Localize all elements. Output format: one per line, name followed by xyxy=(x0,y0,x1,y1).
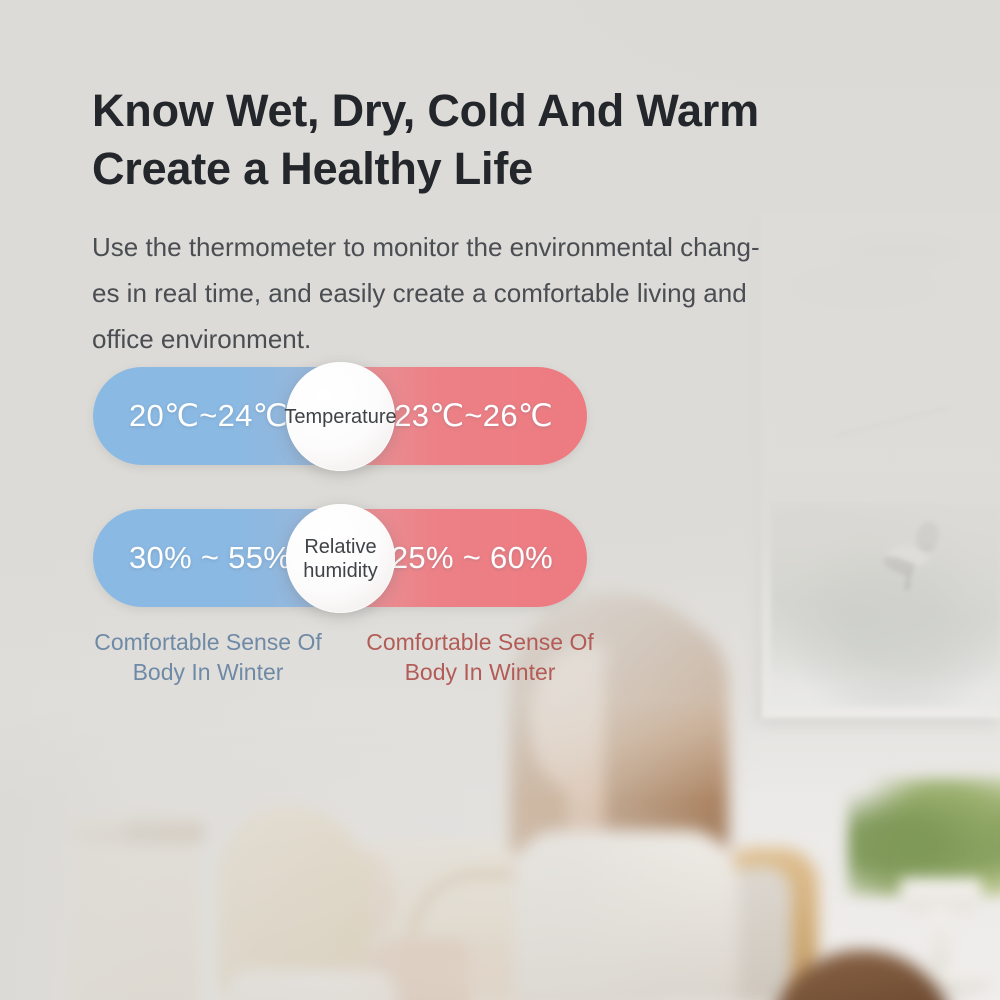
temperature-knob-label: Temperature xyxy=(279,405,401,429)
humidity-warm-value: 25% ~ 60% xyxy=(391,509,553,607)
caption-winter-warm: Comfortable Sense Of Body In Winter xyxy=(344,627,616,687)
temperature-warm-value: 23℃~26℃ xyxy=(394,367,553,465)
subcopy-line-2: es in real time, and easily create a com… xyxy=(92,270,920,316)
caption-row: Comfortable Sense Of Body In Winter Comf… xyxy=(72,627,632,687)
promo-banner: Know Wet, Dry, Cold And Warm Create a He… xyxy=(0,0,1000,1000)
humidity-knob: Relative humidity xyxy=(286,504,395,613)
humidity-cold-value: 30% ~ 55% xyxy=(129,509,291,607)
subcopy-line-3: office environment. xyxy=(92,316,920,362)
caption-cold-line-2: Body In Winter xyxy=(72,657,344,687)
page-title: Know Wet, Dry, Cold And Warm Create a He… xyxy=(92,82,892,198)
caption-cold-line-1: Comfortable Sense Of xyxy=(72,627,344,657)
temperature-knob: Temperature xyxy=(286,362,395,471)
caption-winter-cold: Comfortable Sense Of Body In Winter xyxy=(72,627,344,687)
humidity-knob-label-line-1: Relative xyxy=(304,536,376,558)
metric-list: 20℃~24℃ 23℃~26℃ Temperature 30% ~ 55% 25… xyxy=(93,367,587,651)
headline-line-2: Create a Healthy Life xyxy=(92,140,892,198)
content-layer: Know Wet, Dry, Cold And Warm Create a He… xyxy=(0,0,1000,1000)
humidity-knob-label-line-2: humidity xyxy=(303,560,377,582)
headline-line-1: Know Wet, Dry, Cold And Warm xyxy=(92,82,892,140)
page-description: Use the thermometer to monitor the envir… xyxy=(92,224,920,362)
humidity-knob-label: Relative humidity xyxy=(298,535,382,583)
subcopy-line-1: Use the thermometer to monitor the envir… xyxy=(92,224,920,270)
caption-warm-line-1: Comfortable Sense Of xyxy=(344,627,616,657)
metric-row-temperature: 20℃~24℃ 23℃~26℃ Temperature xyxy=(93,367,587,465)
caption-warm-line-2: Body In Winter xyxy=(344,657,616,687)
temperature-cold-value: 20℃~24℃ xyxy=(129,367,288,465)
metric-row-relative-humidity: 30% ~ 55% 25% ~ 60% Relative humidity xyxy=(93,509,587,607)
